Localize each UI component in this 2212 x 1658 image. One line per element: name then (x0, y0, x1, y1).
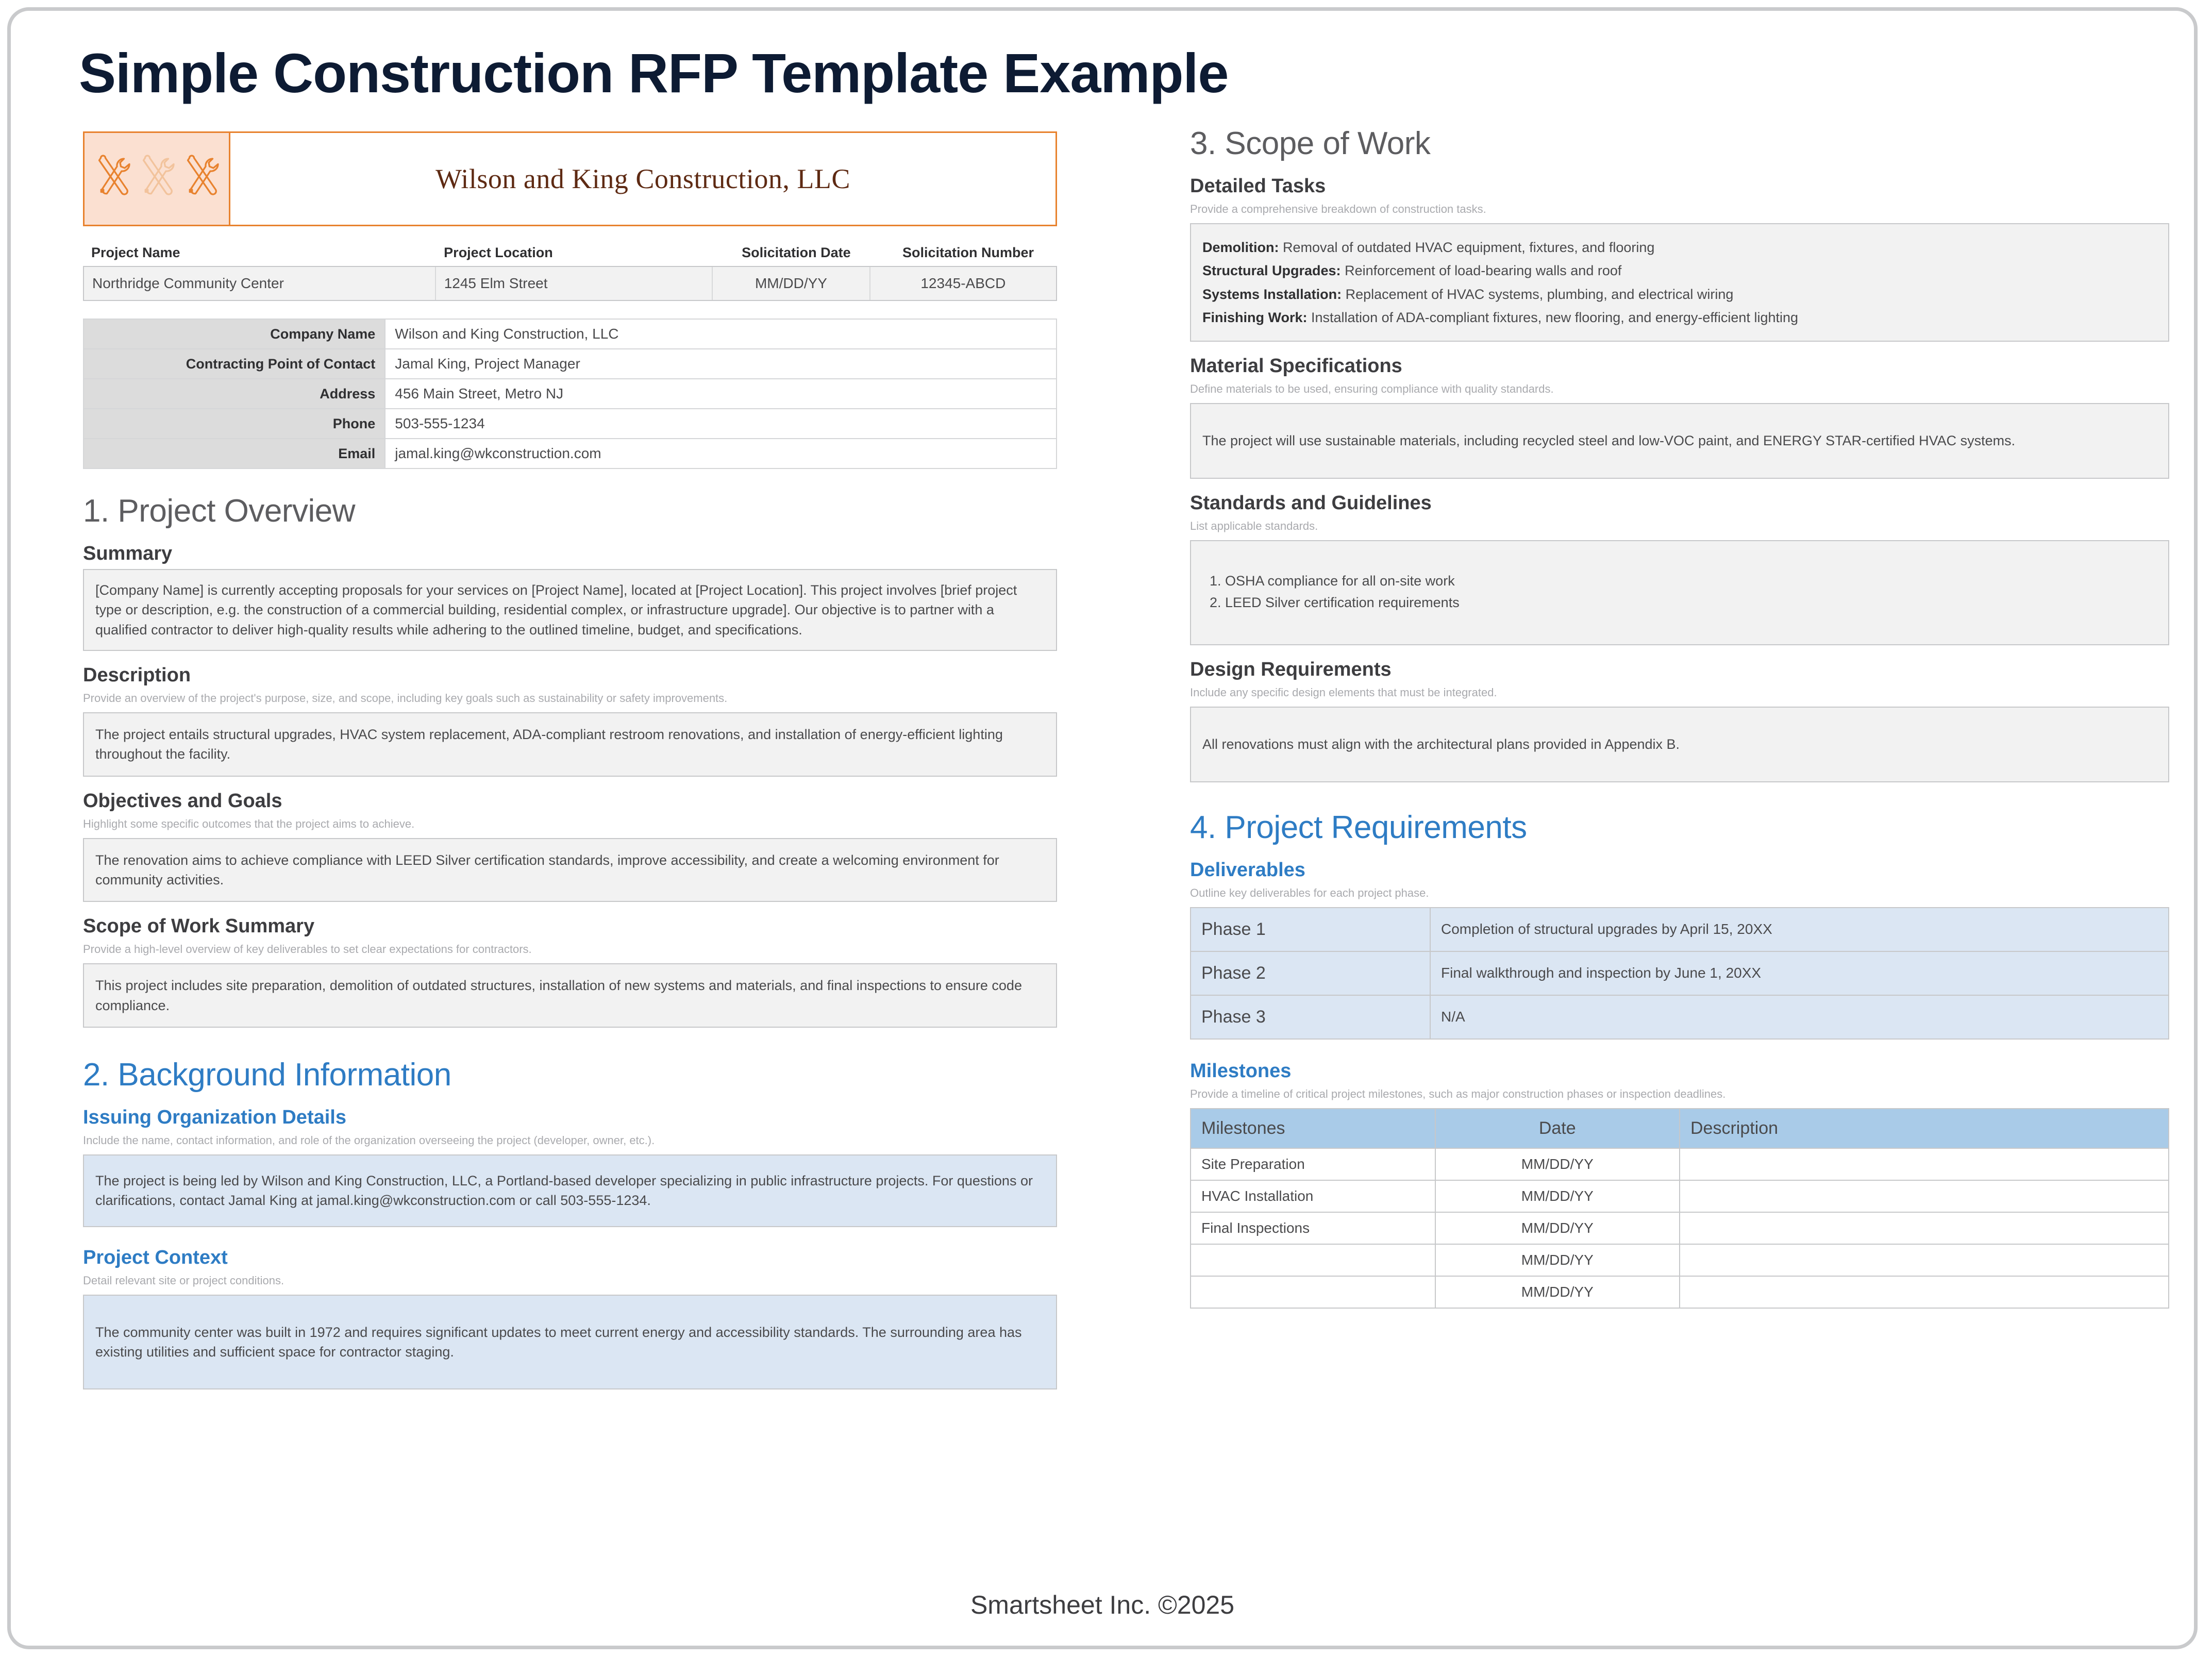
header-project-name: Project Name (83, 245, 435, 266)
value-email[interactable]: jamal.king@wkconstruction.com (385, 439, 1057, 468)
scope-summary-heading: Scope of Work Summary (83, 915, 1057, 937)
deliverables-heading: Deliverables (1190, 859, 2169, 881)
value-phone[interactable]: 503-555-1234 (385, 409, 1057, 439)
project-info-row: Northridge Community Center 1245 Elm Str… (83, 266, 1057, 301)
milestone-description[interactable] (1680, 1244, 2169, 1276)
description-heading: Description (83, 664, 1057, 686)
task-text: Replacement of HVAC systems, plumbing, a… (1342, 287, 1733, 302)
milestone-description[interactable] (1680, 1148, 2169, 1180)
phase-label: Phase 3 (1191, 995, 1430, 1039)
value-project-name[interactable]: Northridge Community Center (84, 267, 436, 300)
task-item: Structural Upgrades: Reinforcement of lo… (1202, 261, 2157, 280)
design-requirements-hint: Include any specific design elements tha… (1190, 686, 2169, 699)
label-email: Email (83, 439, 385, 468)
milestone-name[interactable]: Site Preparation (1191, 1148, 1435, 1180)
project-context-text: The community center was built in 1972 a… (95, 1322, 1045, 1362)
value-solicitation-number[interactable]: 12345-ABCD (870, 267, 1056, 300)
objectives-box[interactable]: The renovation aims to achieve complianc… (83, 838, 1057, 902)
table-row: Final Inspections MM/DD/YY (1191, 1212, 2169, 1244)
milestone-description[interactable] (1680, 1212, 2169, 1244)
left-column: Wilson and King Construction, LLC Projec… (83, 131, 1057, 1389)
table-row: Address 456 Main Street, Metro NJ (83, 379, 1057, 409)
material-specs-box[interactable]: The project will use sustainable materia… (1190, 403, 2169, 478)
table-row: Site Preparation MM/DD/YY (1191, 1148, 2169, 1180)
milestones-heading: Milestones (1190, 1060, 2169, 1082)
issuing-org-box[interactable]: The project is being led by Wilson and K… (83, 1154, 1057, 1227)
task-item: Finishing Work: Installation of ADA-comp… (1202, 308, 2157, 327)
material-specs-heading: Material Specifications (1190, 355, 2169, 377)
milestone-date[interactable]: MM/DD/YY (1435, 1276, 1680, 1308)
phase-detail[interactable]: Completion of structural upgrades by Apr… (1430, 908, 2169, 951)
crossed-wrench-screwdriver-icon (85, 133, 230, 225)
table-row: Company Name Wilson and King Constructio… (83, 319, 1057, 349)
value-solicitation-date[interactable]: MM/DD/YY (713, 267, 870, 300)
label-company-name: Company Name (83, 319, 385, 349)
milestone-name[interactable]: Final Inspections (1191, 1212, 1435, 1244)
table-row: MM/DD/YY (1191, 1244, 2169, 1276)
milestone-description[interactable] (1680, 1276, 2169, 1308)
milestone-name[interactable]: HVAC Installation (1191, 1180, 1435, 1212)
table-row: Contracting Point of Contact Jamal King,… (83, 349, 1057, 379)
scope-summary-text: This project includes site preparation, … (95, 976, 1045, 1015)
table-row: Phone 503-555-1234 (83, 409, 1057, 439)
page-title: Simple Construction RFP Template Example (79, 41, 1228, 105)
detailed-tasks-heading: Detailed Tasks (1190, 175, 2169, 197)
task-label: Demolition: (1202, 240, 1279, 255)
design-requirements-heading: Design Requirements (1190, 659, 2169, 681)
summary-text: [Company Name] is currently accepting pr… (95, 580, 1045, 640)
issuing-org-hint: Include the name, contact information, a… (83, 1134, 1057, 1147)
value-project-location[interactable]: 1245 Elm Street (436, 267, 713, 300)
detailed-tasks-hint: Provide a comprehensive breakdown of con… (1190, 203, 2169, 216)
milestone-date[interactable]: MM/DD/YY (1435, 1180, 1680, 1212)
project-context-heading: Project Context (83, 1247, 1057, 1269)
label-phone: Phone (83, 409, 385, 439)
design-requirements-text: All renovations must align with the arch… (1202, 734, 2157, 754)
company-name-logo: Wilson and King Construction, LLC (230, 133, 1055, 225)
section-1-heading: 1. Project Overview (83, 493, 1057, 529)
table-row: Email jamal.king@wkconstruction.com (83, 439, 1057, 468)
table-row: HVAC Installation MM/DD/YY (1191, 1180, 2169, 1212)
value-contracting-point-of-contact[interactable]: Jamal King, Project Manager (385, 349, 1057, 379)
section-2-heading: 2. Background Information (83, 1057, 1057, 1093)
deliverables-table: Phase 1 Completion of structural upgrade… (1190, 907, 2169, 1040)
detailed-tasks-box[interactable]: Demolition: Removal of outdated HVAC equ… (1190, 223, 2169, 342)
task-item: Demolition: Removal of outdated HVAC equ… (1202, 238, 2157, 257)
standards-line: 2. LEED Silver certification requirement… (1202, 593, 2157, 612)
project-context-hint: Detail relevant site or project conditio… (83, 1274, 1057, 1287)
standards-heading: Standards and Guidelines (1190, 492, 2169, 514)
section-3-heading: 3. Scope of Work (1190, 125, 2169, 162)
phase-label: Phase 2 (1191, 951, 1430, 995)
value-address[interactable]: 456 Main Street, Metro NJ (385, 379, 1057, 409)
task-label: Finishing Work: (1202, 310, 1308, 325)
project-info-headers: Project Name Project Location Solicitati… (83, 245, 1057, 266)
label-address: Address (83, 379, 385, 409)
summary-heading: Summary (83, 543, 1057, 565)
column-header-milestones: Milestones (1191, 1109, 1435, 1148)
task-label: Structural Upgrades: (1202, 263, 1341, 278)
label-contracting-point-of-contact: Contracting Point of Contact (83, 349, 385, 379)
phase-detail[interactable]: N/A (1430, 995, 2169, 1039)
design-requirements-box[interactable]: All renovations must align with the arch… (1190, 707, 2169, 782)
company-details-table: Company Name Wilson and King Constructio… (83, 319, 1057, 469)
task-item: Systems Installation: Replacement of HVA… (1202, 284, 2157, 304)
milestones-table: Milestones Date Description Site Prepara… (1190, 1108, 2169, 1309)
header-solicitation-date: Solicitation Date (713, 245, 871, 266)
table-row: Phase 1 Completion of structural upgrade… (1191, 908, 2169, 951)
scope-summary-hint: Provide a high-level overview of key del… (83, 943, 1057, 956)
column-header-description: Description (1680, 1109, 2169, 1148)
milestone-name[interactable] (1191, 1276, 1435, 1308)
deliverables-hint: Outline key deliverables for each projec… (1190, 886, 2169, 900)
right-column: 3. Scope of Work Detailed Tasks Provide … (1190, 125, 2169, 1309)
header-solicitation-number: Solicitation Number (871, 245, 1057, 266)
standards-box[interactable]: 1. OSHA compliance for all on-site work … (1190, 540, 2169, 646)
task-text: Removal of outdated HVAC equipment, fixt… (1279, 240, 1655, 255)
description-box[interactable]: The project entails structural upgrades,… (83, 712, 1057, 777)
task-text: Installation of ADA-compliant fixtures, … (1308, 310, 1799, 325)
column-header-date: Date (1435, 1109, 1680, 1148)
material-specs-text: The project will use sustainable materia… (1202, 431, 2157, 450)
value-company-name[interactable]: Wilson and King Construction, LLC (385, 319, 1057, 349)
standards-line: 1. OSHA compliance for all on-site work (1202, 571, 2157, 591)
task-label: Systems Installation: (1202, 287, 1342, 302)
objectives-heading: Objectives and Goals (83, 790, 1057, 812)
milestone-date[interactable]: MM/DD/YY (1435, 1212, 1680, 1244)
issuing-org-text: The project is being led by Wilson and K… (95, 1171, 1045, 1211)
scope-summary-box[interactable]: This project includes site preparation, … (83, 963, 1057, 1028)
table-row: Phase 2 Final walkthrough and inspection… (1191, 951, 2169, 995)
summary-box[interactable]: [Company Name] is currently accepting pr… (83, 569, 1057, 651)
issuing-org-heading: Issuing Organization Details (83, 1107, 1057, 1129)
milestone-name[interactable] (1191, 1244, 1435, 1276)
table-row: Phase 3 N/A (1191, 995, 2169, 1039)
footer-copyright: Smartsheet Inc. ©2025 (11, 1590, 2194, 1620)
milestone-description[interactable] (1680, 1180, 2169, 1212)
header-project-location: Project Location (435, 245, 713, 266)
table-row: MM/DD/YY (1191, 1276, 2169, 1308)
company-logo-header: Wilson and King Construction, LLC (83, 131, 1057, 226)
material-specs-hint: Define materials to be used, ensuring co… (1190, 382, 2169, 396)
objectives-text: The renovation aims to achieve complianc… (95, 850, 1045, 890)
description-text: The project entails structural upgrades,… (95, 725, 1045, 764)
phase-label: Phase 1 (1191, 908, 1430, 951)
milestones-hint: Provide a timeline of critical project m… (1190, 1087, 2169, 1101)
section-4-heading: 4. Project Requirements (1190, 809, 2169, 846)
description-hint: Provide an overview of the project's pur… (83, 692, 1057, 705)
objectives-hint: Highlight some specific outcomes that th… (83, 817, 1057, 831)
milestone-date[interactable]: MM/DD/YY (1435, 1148, 1680, 1180)
page-frame: Simple Construction RFP Template Example (7, 7, 2198, 1649)
task-text: Reinforcement of load-bearing walls and … (1341, 263, 1622, 278)
milestone-date[interactable]: MM/DD/YY (1435, 1244, 1680, 1276)
table-header-row: Milestones Date Description (1191, 1109, 2169, 1148)
standards-hint: List applicable standards. (1190, 520, 2169, 533)
phase-detail[interactable]: Final walkthrough and inspection by June… (1430, 951, 2169, 995)
project-context-box[interactable]: The community center was built in 1972 a… (83, 1295, 1057, 1390)
